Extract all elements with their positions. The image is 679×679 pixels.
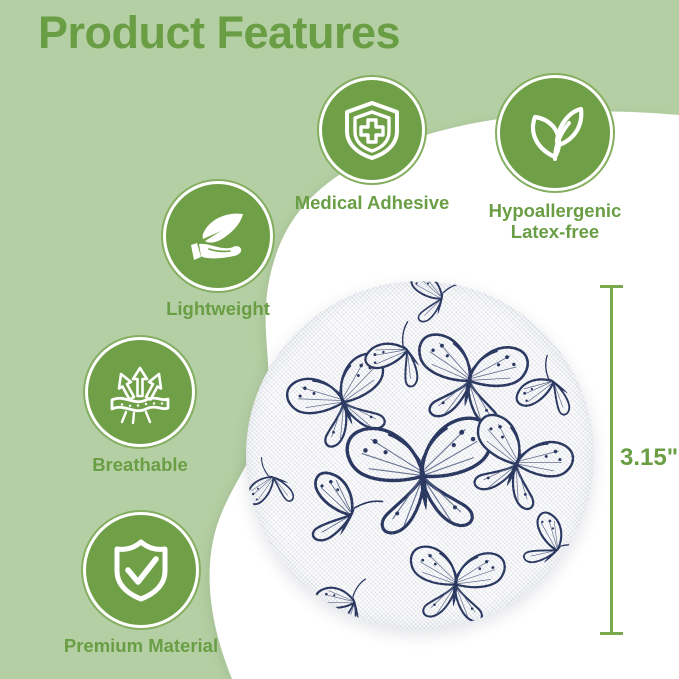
feature-hypoallergenic[interactable]: Hypoallergenic Latex-free [500,78,610,188]
medical-adhesive-badge[interactable] [322,80,422,180]
airflow-arrows-icon [104,356,176,428]
feature-label: Hypoallergenic Latex-free [489,200,622,242]
product-features-infographic: Product Features Medical Adhesive Hypoal… [0,0,679,679]
page-title: Product Features [38,8,400,58]
shield-cross-icon [340,98,404,162]
feature-lightweight[interactable]: Lightweight [166,184,270,288]
feature-label: Breathable [92,454,188,475]
fabric-texture [246,281,594,629]
shield-check-icon [106,535,176,605]
dimension-line [610,285,613,635]
feature-label: Premium Material [64,635,218,656]
dimension-value: 3.15" [620,444,678,472]
hand-feather-icon [183,201,253,271]
lightweight-badge[interactable] [166,184,270,288]
feature-label: Medical Adhesive [295,192,450,213]
premium-material-badge[interactable] [86,515,196,625]
dimension-cap-bottom [600,632,623,635]
feature-medical-adhesive[interactable]: Medical Adhesive [322,80,422,180]
leaves-icon [519,97,591,169]
breathable-badge[interactable] [88,340,192,444]
dimension-indicator [600,285,622,635]
hypoallergenic-badge[interactable] [500,78,610,188]
feature-breathable[interactable]: Breathable [88,340,192,444]
product-image-round-patch[interactable] [246,281,594,629]
feature-premium-material[interactable]: Premium Material [86,515,196,625]
